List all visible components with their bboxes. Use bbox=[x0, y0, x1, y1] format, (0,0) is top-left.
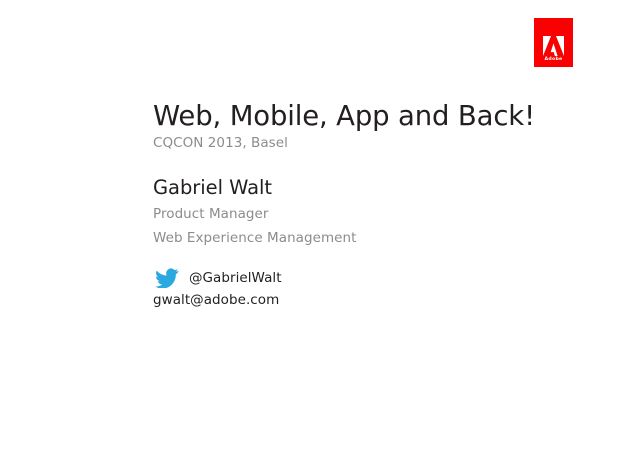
twitter-bird-icon bbox=[155, 268, 179, 288]
adobe-wordmark: Adobe bbox=[545, 58, 563, 63]
slide-subtitle: CQCON 2013, Basel bbox=[153, 134, 573, 152]
email-address: gwalt@adobe.com bbox=[153, 290, 573, 310]
adobe-a-logo-icon bbox=[543, 36, 564, 56]
presenter-role: Product Manager bbox=[153, 202, 573, 226]
slide-content: Web, Mobile, App and Back! CQCON 2013, B… bbox=[153, 100, 573, 310]
twitter-row: @GabrielWalt bbox=[153, 268, 573, 288]
slide-title: Web, Mobile, App and Back! bbox=[153, 100, 573, 132]
presenter-name: Gabriel Walt bbox=[153, 176, 573, 200]
adobe-logo: Adobe bbox=[534, 18, 573, 67]
presenter-team: Web Experience Management bbox=[153, 226, 573, 250]
presentation-slide: Adobe Web, Mobile, App and Back! CQCON 2… bbox=[0, 0, 640, 452]
twitter-handle: @GabrielWalt bbox=[189, 268, 282, 288]
contact-block: @GabrielWalt gwalt@adobe.com bbox=[153, 268, 573, 310]
